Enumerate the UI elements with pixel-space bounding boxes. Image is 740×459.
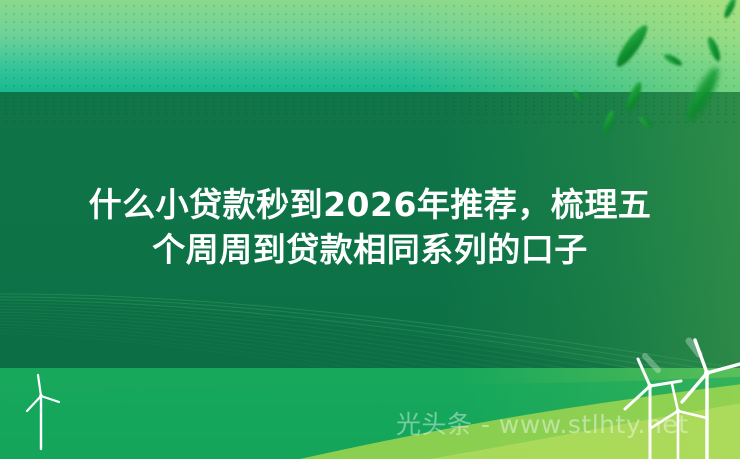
title-line-2: 个周周到贷款相同系列的口子 — [0, 227, 740, 272]
leaf-icon — [663, 52, 684, 67]
wave-shadow-wedge — [0, 300, 740, 392]
leaf-icon — [682, 64, 723, 124]
site-watermark: 光头条 - www.stlhty.net — [396, 405, 689, 441]
poster-title: 什么小贷款秒到2026年推荐，梳理五 个周周到贷款相同系列的口子 — [0, 182, 740, 272]
poster-canvas: 什么小贷款秒到2026年推荐，梳理五 个周周到贷款相同系列的口子 光头条 - w… — [0, 0, 740, 459]
leaf-icon — [602, 109, 616, 134]
leaf-icon — [722, 0, 737, 19]
leaf-icon — [572, 90, 584, 103]
leaf-icon — [624, 80, 645, 113]
leaf-group — [572, 0, 738, 135]
title-line-1: 什么小贷款秒到2026年推荐，梳理五 — [0, 182, 740, 227]
leaf-icon — [612, 22, 651, 70]
leaf-icon — [638, 115, 654, 129]
leaf-icon — [705, 35, 722, 62]
